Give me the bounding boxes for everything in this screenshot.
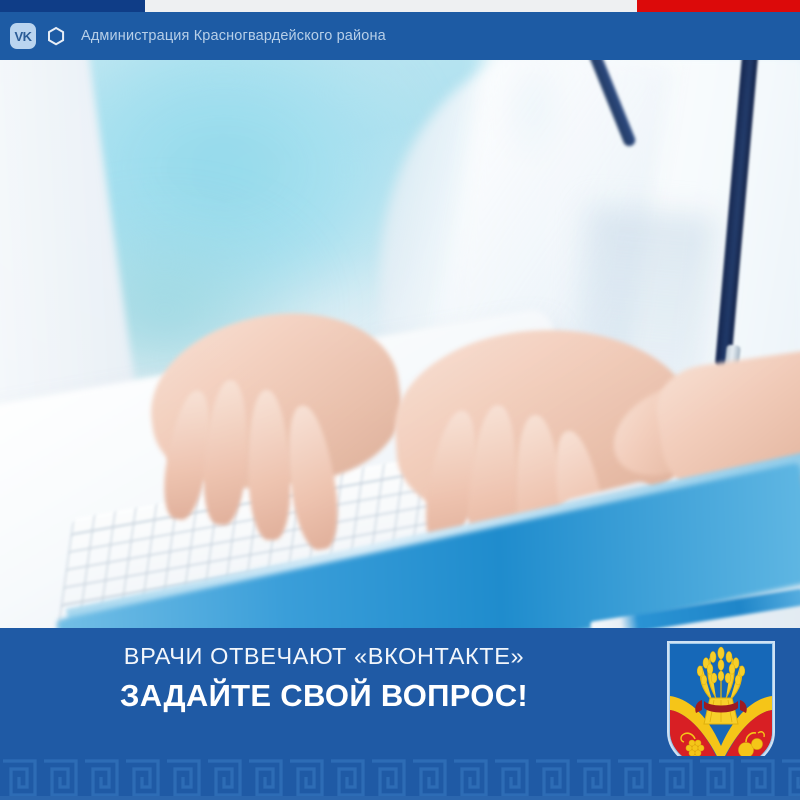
greek-meander-border	[0, 756, 800, 800]
russian-tricolor-strip	[0, 0, 800, 12]
ok-icon[interactable]: ⬡	[43, 23, 69, 49]
social-post-canvas: VK ⬡ Администрация Красногвардейского ра…	[0, 0, 800, 800]
promo-banner-text: ВРАЧИ ОТВЕЧАЮТ «ВКОНТАКТЕ» ЗАДАЙТЕ СВОЙ …	[0, 642, 648, 717]
flag-band-blue	[0, 0, 145, 12]
flag-band-white	[145, 0, 637, 12]
promo-headline: ВРАЧИ ОТВЕЧАЮТ «ВКОНТАКТЕ»	[0, 642, 648, 671]
vk-icon-label: VK	[14, 30, 31, 43]
page-title: Администрация Красногвардейского района	[81, 28, 386, 44]
vk-icon[interactable]: VK	[10, 23, 36, 49]
ok-icon-label: ⬡	[47, 26, 65, 47]
page-header: VK ⬡ Администрация Красногвардейского ра…	[0, 12, 800, 60]
flag-band-red	[637, 0, 800, 12]
hero-photo	[0, 60, 800, 628]
promo-banner: ВРАЧИ ОТВЕЧАЮТ «ВКОНТАКТЕ» ЗАДАЙТЕ СВОЙ …	[0, 628, 800, 800]
promo-callout: ЗАДАЙТЕ СВОЙ ВОПРОС!	[0, 676, 648, 716]
